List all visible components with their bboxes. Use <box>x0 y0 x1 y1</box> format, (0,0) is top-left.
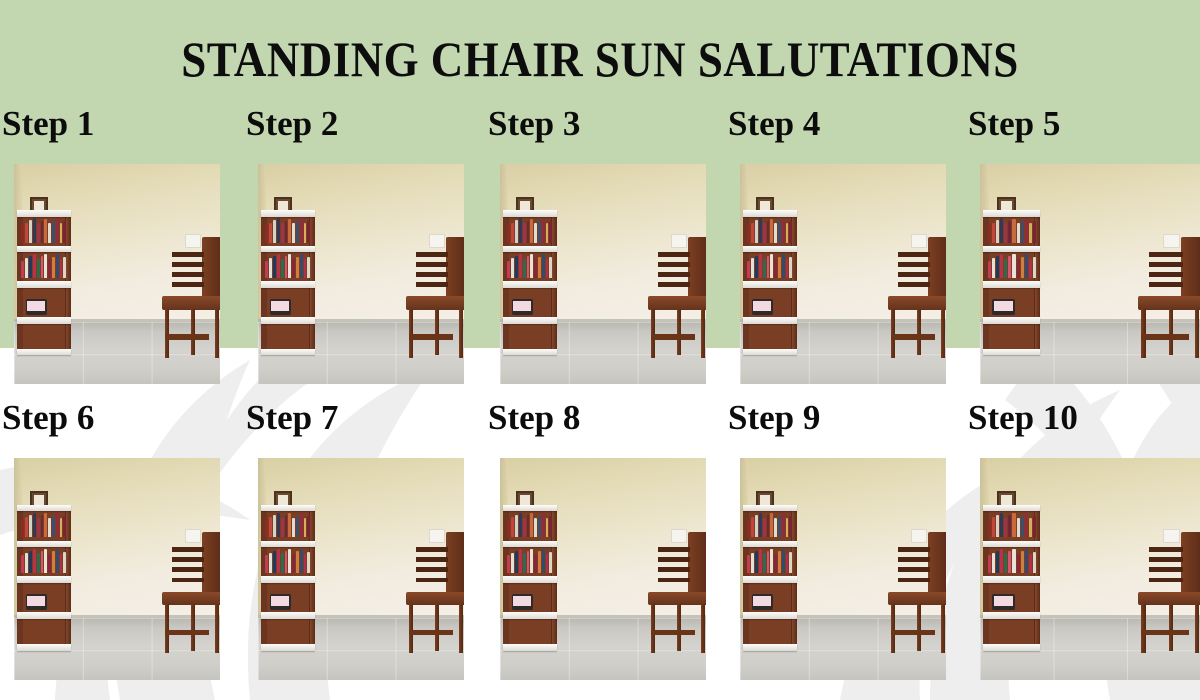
yoga-scene <box>980 458 1200 680</box>
wooden-chair <box>406 547 464 654</box>
bookshelf <box>983 505 1040 652</box>
step-photo-7[interactable] <box>258 458 464 680</box>
book-row <box>747 218 792 243</box>
bookshelf <box>261 505 315 652</box>
chair-seat <box>162 592 220 606</box>
yoga-scene <box>740 164 946 384</box>
step-label-10: Step 10 <box>968 400 1078 435</box>
yoga-scene <box>500 164 706 384</box>
bookshelf <box>503 505 557 652</box>
yoga-scene <box>14 458 220 680</box>
chair-seat <box>888 296 946 310</box>
light-switch-icon <box>911 234 927 248</box>
wooden-chair <box>648 252 706 358</box>
chair-back <box>928 532 946 600</box>
chair-seat <box>648 296 706 310</box>
chair-seat <box>406 592 464 606</box>
yoga-scene <box>14 164 220 384</box>
bookshelf <box>983 210 1040 355</box>
chair-back <box>202 532 220 600</box>
photo-stand <box>26 299 47 315</box>
step-photo-1[interactable] <box>14 164 220 384</box>
light-switch-icon <box>429 234 445 248</box>
photo-stand <box>752 299 773 315</box>
bookshelf <box>503 210 557 355</box>
light-switch-icon <box>429 529 445 543</box>
book-row <box>265 254 310 279</box>
bookshelf <box>743 505 797 652</box>
photo-stand <box>992 299 1015 315</box>
step-photo-5[interactable] <box>980 164 1200 384</box>
light-switch-icon <box>911 529 927 543</box>
wooden-chair <box>888 547 946 654</box>
book-row <box>747 254 792 279</box>
step-photo-8[interactable] <box>500 458 706 680</box>
chair-seat <box>888 592 946 606</box>
yoga-scene <box>980 164 1200 384</box>
steps-grid: Step 1Step 2Step 3Step 4Step 5Step 6Step… <box>0 0 1200 700</box>
step-label-3: Step 3 <box>488 106 580 141</box>
wooden-chair <box>162 547 220 654</box>
wooden-chair <box>648 547 706 654</box>
yoga-scene <box>740 458 946 680</box>
step-label-2: Step 2 <box>246 106 338 141</box>
chair-back <box>688 532 706 600</box>
photo-stand <box>270 594 291 610</box>
step-photo-10[interactable] <box>980 458 1200 680</box>
chair-back <box>1181 237 1200 305</box>
book-row <box>507 254 552 279</box>
book-row <box>21 513 66 538</box>
wooden-chair <box>888 252 946 358</box>
book-row <box>507 548 552 573</box>
chair-back <box>928 237 946 305</box>
wooden-chair <box>162 252 220 358</box>
bookshelf <box>261 210 315 355</box>
chair-back <box>1181 532 1200 600</box>
chair-back <box>202 237 220 305</box>
step-label-5: Step 5 <box>968 106 1060 141</box>
chair-back <box>446 237 464 305</box>
step-label-9: Step 9 <box>728 400 820 435</box>
book-row <box>265 513 310 538</box>
book-row <box>747 513 792 538</box>
step-label-6: Step 6 <box>2 400 94 435</box>
chair-seat <box>648 592 706 606</box>
photo-stand <box>992 594 1015 610</box>
chair-back <box>688 237 706 305</box>
book-row <box>21 548 66 573</box>
photo-stand <box>270 299 291 315</box>
book-row <box>265 218 310 243</box>
chair-seat <box>162 296 220 310</box>
step-photo-3[interactable] <box>500 164 706 384</box>
book-row <box>265 548 310 573</box>
poster: STANDING CHAIR SUN SALUTATIONS Step 1Ste… <box>0 0 1200 700</box>
book-row <box>21 254 66 279</box>
book-row <box>988 254 1036 279</box>
yoga-scene <box>500 458 706 680</box>
light-switch-icon <box>185 529 201 543</box>
page-title: STANDING CHAIR SUN SALUTATIONS <box>60 30 1140 88</box>
chair-seat <box>1138 592 1200 606</box>
bookshelf <box>743 210 797 355</box>
step-label-7: Step 7 <box>246 400 338 435</box>
wooden-chair <box>1138 252 1200 358</box>
chair-back <box>446 532 464 600</box>
book-row <box>988 513 1036 538</box>
step-label-1: Step 1 <box>2 106 94 141</box>
bookshelf <box>17 210 71 355</box>
wooden-chair <box>406 252 464 358</box>
step-label-4: Step 4 <box>728 106 820 141</box>
step-photo-4[interactable] <box>740 164 946 384</box>
book-row <box>507 218 552 243</box>
book-row <box>988 218 1036 243</box>
step-label-8: Step 8 <box>488 400 580 435</box>
book-row <box>988 548 1036 573</box>
light-switch-icon <box>671 234 687 248</box>
wooden-chair <box>1138 547 1200 654</box>
chair-seat <box>1138 296 1200 310</box>
step-photo-2[interactable] <box>258 164 464 384</box>
bookshelf <box>17 505 71 652</box>
chair-seat <box>406 296 464 310</box>
step-photo-9[interactable] <box>740 458 946 680</box>
light-switch-icon <box>185 234 201 248</box>
photo-stand <box>752 594 773 610</box>
photo-stand <box>512 594 533 610</box>
photo-stand <box>512 299 533 315</box>
photo-stand <box>26 594 47 610</box>
book-row <box>507 513 552 538</box>
step-photo-6[interactable] <box>14 458 220 680</box>
yoga-scene <box>258 164 464 384</box>
book-row <box>747 548 792 573</box>
light-switch-icon <box>671 529 687 543</box>
yoga-scene <box>258 458 464 680</box>
book-row <box>21 218 66 243</box>
light-switch-icon <box>1163 234 1180 248</box>
light-switch-icon <box>1163 529 1180 543</box>
